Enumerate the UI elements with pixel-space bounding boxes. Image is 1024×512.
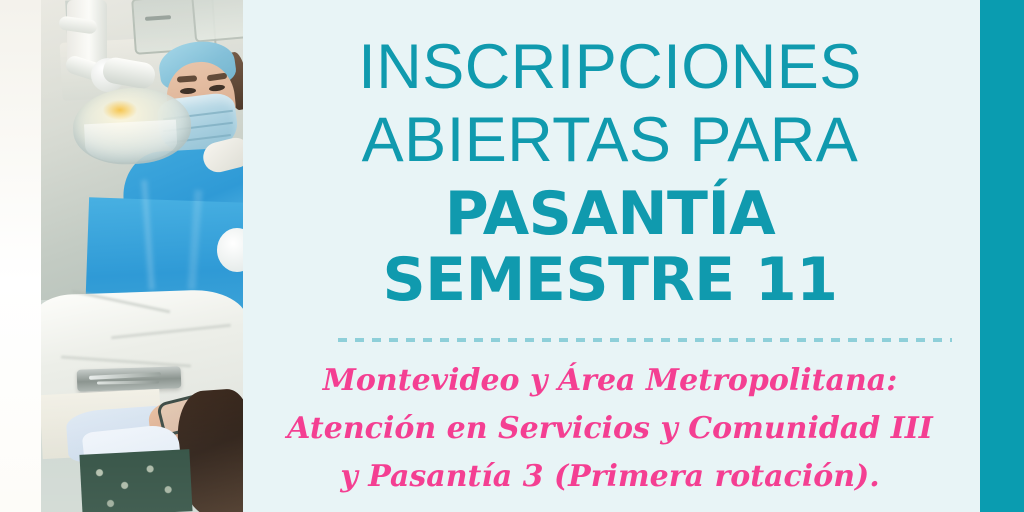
subtext-line-1: Montevideo y Área Metropolitana: xyxy=(260,366,960,396)
subtext-line-3: y Pasantía 3 (Primera rotación). xyxy=(260,462,960,492)
right-accent-bar xyxy=(980,0,1024,512)
dashed-divider xyxy=(338,338,952,342)
text-content: INSCRIPCIONES ABIERTAS PARA PASANTÍA SEM… xyxy=(260,0,980,512)
headline-line-2: ABIERTAS PARA xyxy=(260,109,960,172)
poster-root: INSCRIPCIONES ABIERTAS PARA PASANTÍA SEM… xyxy=(0,0,1024,512)
photo-left-gutter xyxy=(0,0,41,512)
headline-line-1: INSCRIPCIONES xyxy=(260,36,960,99)
headline-line-4: SEMESTRE 11 xyxy=(260,250,960,310)
headline-line-3: PASANTÍA xyxy=(260,184,960,244)
clinic-photo xyxy=(41,0,243,512)
subtext-line-2: Atención en Servicios y Comunidad III xyxy=(260,414,960,444)
photo-overlay xyxy=(41,0,243,512)
